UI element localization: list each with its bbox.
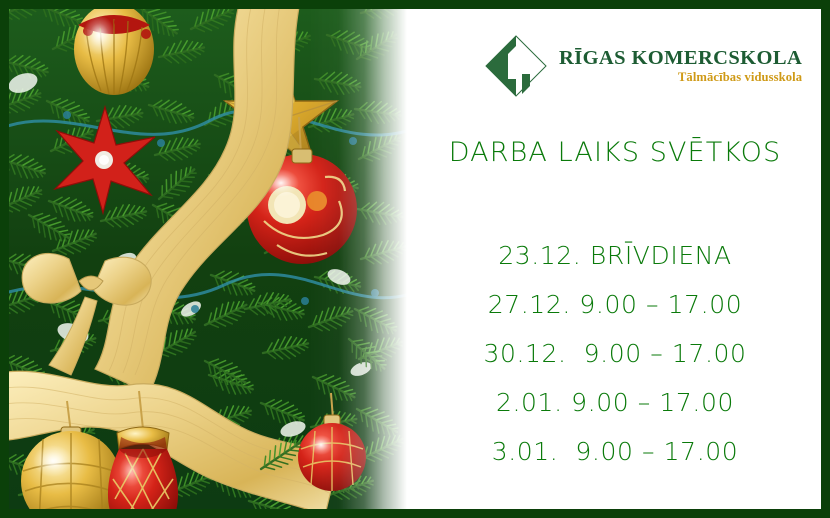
holiday-hours-poster: RĪGAS KOMERCSKOLA Tālmācības vidusskola … (0, 0, 830, 518)
schedule-row: 27.12. 9.00 – 17.00 (409, 280, 821, 329)
christmas-tree-illustration (9, 9, 409, 509)
schedule-row: 2.01. 9.00 – 17.00 (409, 378, 821, 427)
poster-content: RĪGAS KOMERCSKOLA Tālmācības vidusskola … (409, 9, 821, 509)
page-title: DARBA LAIKS SVĒTKOS (409, 137, 821, 168)
schedule-row: 23.12. BRĪVDIENA (409, 231, 821, 280)
logo-school-subtitle: Tālmācības vidusskola (678, 71, 802, 84)
christmas-tree-photo (9, 9, 409, 509)
logo-school-name: RĪGAS KOMERCSKOLA (559, 48, 802, 69)
schedule-row: 30.12. 9.00 – 17.00 (409, 329, 821, 378)
holiday-schedule-list: 23.12. BRĪVDIENA 27.12. 9.00 – 17.00 30.… (409, 231, 821, 476)
schedule-row: 3.01. 9.00 – 17.00 (409, 427, 821, 476)
rigas-komerckola-diamond-logo-icon (484, 34, 548, 98)
school-logo: RĪGAS KOMERCSKOLA Tālmācības vidusskola (484, 34, 802, 98)
logo-wordmark: RĪGAS KOMERCSKOLA Tālmācības vidusskola (559, 48, 802, 84)
